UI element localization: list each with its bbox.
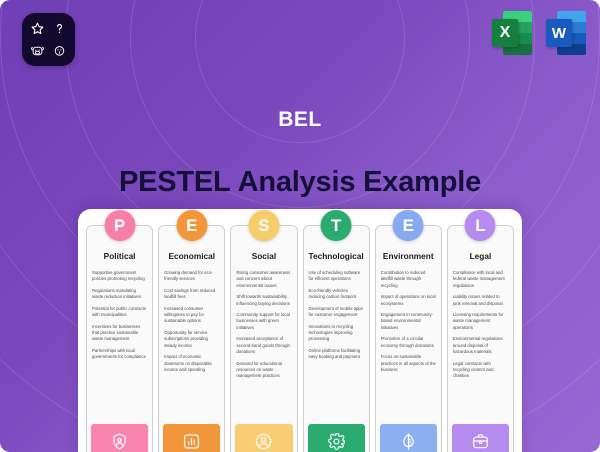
bullet-item: Demand for educational resources on wast…	[236, 361, 291, 380]
leaf-icon	[380, 424, 437, 452]
bullet-item: Cost savings from reduced landfill fees	[164, 288, 219, 300]
column-bullet-list: Supportive government policies promoting…	[87, 270, 152, 418]
column-title: Economical	[159, 252, 224, 261]
person-shield-icon	[91, 424, 148, 452]
bullet-item: Online platforms facilitating easy booki…	[309, 348, 364, 360]
bullet-item: Legal contracts with recycling centers a…	[453, 361, 508, 380]
gear-icon	[308, 424, 365, 452]
cow-icon	[27, 40, 49, 62]
office-app-icons: X W	[492, 11, 586, 55]
bullet-item: Partnerships with local governments for …	[92, 348, 147, 360]
bullet-item: Focus on sustainable practices in all as…	[381, 354, 436, 373]
bullet-item: Use of scheduling software for efficient…	[309, 270, 364, 282]
word-icon-letter: W	[546, 19, 572, 47]
bullet-item: Supportive government policies promoting…	[92, 270, 147, 282]
column-letter-badge: T	[321, 210, 352, 241]
bullet-item: Innovations in recycling technologies im…	[309, 324, 364, 343]
bullet-item: Licensing requirements for waste managem…	[453, 312, 508, 331]
bullet-item: Shift towards sustainability influencing…	[236, 294, 291, 306]
brand-name: BEL	[0, 108, 600, 132]
column-title: Legal	[448, 252, 513, 261]
bullet-item: Community support for local businesses w…	[236, 312, 291, 331]
word-icon[interactable]: W	[546, 11, 586, 55]
page-title-word-1: PESTEL	[119, 166, 231, 198]
page-title: PESTELAnalysis Example	[0, 166, 600, 199]
bullet-item: Opportunity for service subscriptions pr…	[164, 330, 219, 349]
bullet-item: Promotion of a circular economy through …	[381, 336, 436, 348]
bullet-item: Eco-friendly vehicles reducing carbon fo…	[309, 288, 364, 300]
column-letter-badge: P	[104, 210, 135, 241]
dog-icon	[49, 40, 71, 62]
user-circle-icon	[235, 424, 292, 452]
excel-icon-letter: X	[492, 19, 518, 47]
star-icon	[27, 18, 49, 40]
column-letter-badge: E	[393, 210, 424, 241]
column-letter-badge: S	[248, 210, 279, 241]
briefcase-icon	[452, 424, 509, 452]
pestel-column-social[interactable]: SSocialRising consumer awareness and con…	[230, 225, 297, 452]
bullet-item: Increased acceptance of second-hand good…	[236, 336, 291, 355]
column-letter-badge: L	[465, 210, 496, 241]
bullet-item: Development of mobile apps for customer …	[309, 306, 364, 318]
bullet-item: Potential for public contracts with muni…	[92, 306, 147, 318]
bullet-item: Rising consumer awareness and concern ab…	[236, 270, 291, 289]
bullet-item: Increased consumer willingness to pay fo…	[164, 306, 219, 325]
pestel-column-political[interactable]: PPoliticalSupportive government policies…	[86, 225, 153, 452]
bullet-item: Impact of operations on local ecosystems	[381, 294, 436, 306]
column-title: Social	[231, 252, 296, 261]
bullet-item: Regulations mandating waste reduction in…	[92, 288, 147, 300]
column-bullet-list: Compliance with local and federal waste …	[448, 270, 513, 418]
pestel-card: PPoliticalSupportive government policies…	[78, 209, 522, 452]
pestel-columns: PPoliticalSupportive government policies…	[86, 225, 514, 452]
column-bullet-list: Growing demand for eco-friendly services…	[159, 270, 224, 418]
bullet-item: Engagement in community-based environmen…	[381, 312, 436, 331]
page-title-word-2: Analysis Example	[238, 166, 481, 198]
pestel-column-economical[interactable]: EEconomicalGrowing demand for eco-friend…	[158, 225, 225, 452]
column-bullet-list: Use of scheduling software for efficient…	[304, 270, 369, 418]
excel-icon[interactable]: X	[492, 11, 532, 55]
pestel-column-environment[interactable]: EEnvironmentContribution to reduced land…	[375, 225, 442, 452]
bullet-item: Contribution to reduced landfill waste t…	[381, 270, 436, 289]
column-title: Technological	[304, 252, 369, 261]
bar-chart-icon	[163, 424, 220, 452]
bullet-item: Growing demand for eco-friendly services	[164, 270, 219, 282]
column-title: Political	[87, 252, 152, 261]
bullet-item: Compliance with local and federal waste …	[453, 270, 508, 289]
bullet-item: Impact of economic downturns on disposab…	[164, 354, 219, 373]
column-title: Environment	[376, 252, 441, 261]
bullet-item: Liability issues related to junk removal…	[453, 294, 508, 306]
pestel-column-technological[interactable]: TTechnologicalUse of scheduling software…	[303, 225, 370, 452]
bullet-item: Environmental regulations around disposa…	[453, 336, 508, 355]
column-letter-badge: E	[176, 210, 207, 241]
pestel-poster: X W BEL PESTELAnalysis Example PPolitica…	[0, 0, 600, 452]
column-bullet-list: Rising consumer awareness and concern ab…	[231, 270, 296, 418]
column-bullet-list: Contribution to reduced landfill waste t…	[376, 270, 441, 418]
pestel-column-legal[interactable]: LLegalCompliance with local and federal …	[447, 225, 514, 452]
app-logo[interactable]	[22, 13, 75, 66]
question-icon	[49, 18, 71, 40]
bullet-item: Incentives for businesses that practice …	[92, 324, 147, 343]
